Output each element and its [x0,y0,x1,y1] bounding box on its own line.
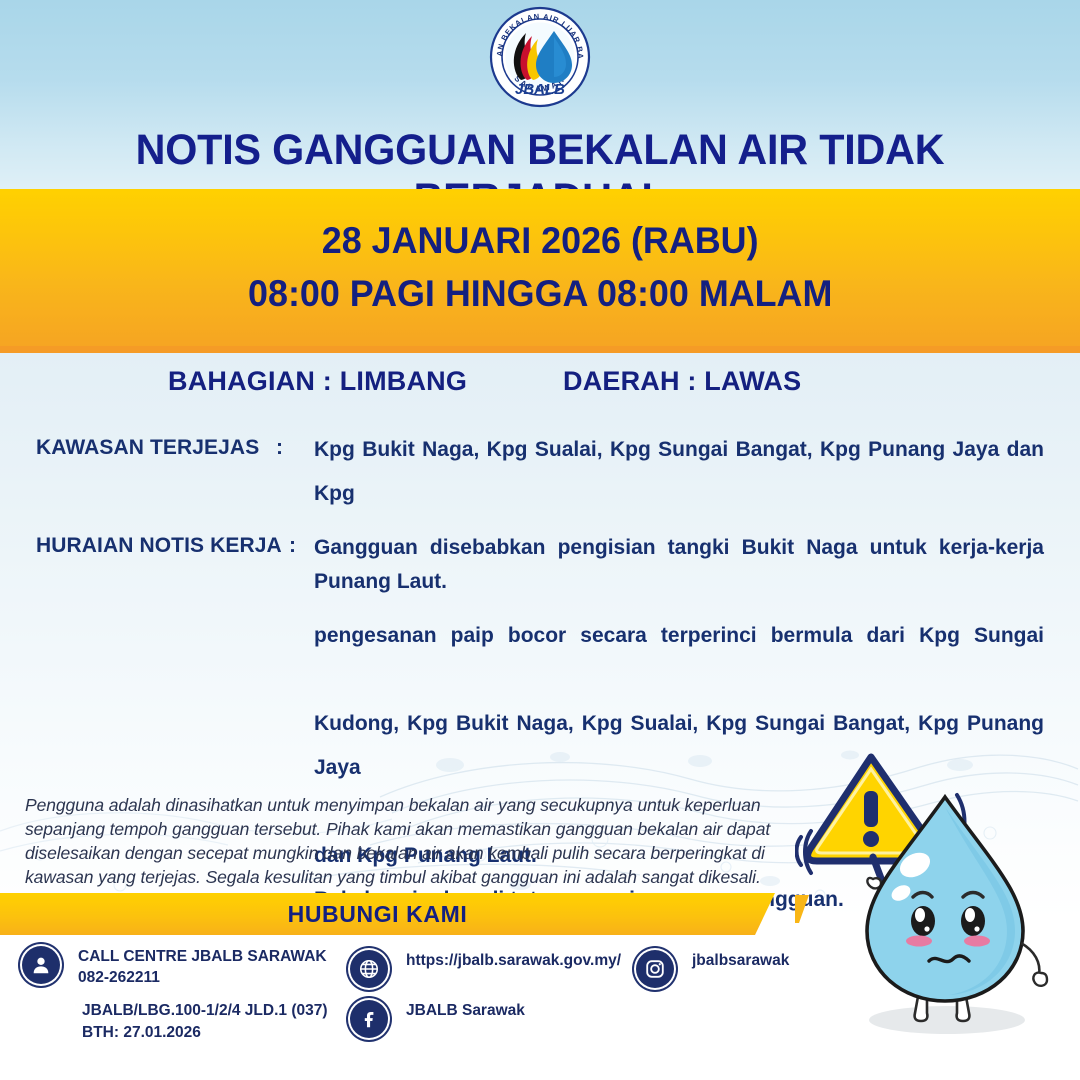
water-disruption-notice-poster: JABATAN BEKALAN AIR LUAR BANDAR SARAWAK … [0,0,1080,1080]
reference-block: JBALB/LBG.100-1/2/4 JLD.1 (037) BTH: 27.… [82,1000,328,1044]
instagram-label: jbalbsarawak [692,950,789,971]
affected-areas-label: KAWASAN TERJEJAS [36,436,259,460]
work-description-label: HURAIAN NOTIS KERJA [36,534,282,558]
facebook-label: JBALB Sarawak [406,1000,525,1021]
affected-areas-colon: : [276,436,283,460]
contact-website[interactable]: https://jbalb.sarawak.gov.my/ [350,950,621,988]
call-centre-text: CALL CENTRE JBALB SARAWAK 082-262211 [78,946,327,988]
notice-time: 08:00 PAGI HINGGA 08:00 MALAM [248,268,832,321]
advisory-paragraph: Pengguna adalah dinasihatkan untuk menyi… [25,793,775,889]
division-label: BAHAGIAN : LIMBANG [168,366,467,397]
contact-instagram[interactable]: jbalbsarawak [636,950,789,988]
work-description-line-2: pengesanan paip bocor secara terperinci … [314,614,1044,702]
instagram-icon [636,950,674,988]
facebook-icon [350,1000,388,1038]
work-description-colon: : [289,534,296,558]
contact-banner-wrap: HUBUNGI KAMI [0,893,1080,935]
jbalb-logo-icon: JABATAN BEKALAN AIR LUAR BANDAR SARAWAK … [488,5,592,109]
contact-banner-label: HUBUNGI KAMI [288,901,468,928]
person-icon [22,946,60,984]
globe-icon [350,950,388,988]
website-label: https://jbalb.sarawak.gov.my/ [406,950,621,971]
call-centre-line-1: CALL CENTRE JBALB SARAWAK [78,948,327,965]
contact-call-centre[interactable]: CALL CENTRE JBALB SARAWAK 082-262211 [22,946,327,988]
banner-slash-2 [809,893,828,935]
banner-slash-1 [779,893,798,935]
jbalb-logo: JABATAN BEKALAN AIR LUAR BANDAR SARAWAK … [488,5,592,109]
contact-facebook[interactable]: JBALB Sarawak [350,1000,525,1038]
svg-text:JBALB: JBALB [515,81,565,98]
contact-banner: HUBUNGI KAMI [0,893,775,935]
call-centre-line-2: 082-262211 [78,967,327,988]
band-divider [0,346,1080,353]
notice-date: 28 JANUARI 2026 (RABU) [322,215,759,268]
district-label: DAERAH : LAWAS [563,366,801,397]
work-description-line-1: Gangguan disebabkan pengisian tangki Buk… [314,526,1044,614]
reference-line-1: JBALB/LBG.100-1/2/4 JLD.1 (037) [82,1000,328,1022]
date-time-band: 28 JANUARI 2026 (RABU) 08:00 PAGI HINGGA… [0,189,1080,346]
reference-line-2: BTH: 27.01.2026 [82,1022,328,1044]
region-row: BAHAGIAN : LIMBANG DAERAH : LAWAS [0,366,1080,408]
